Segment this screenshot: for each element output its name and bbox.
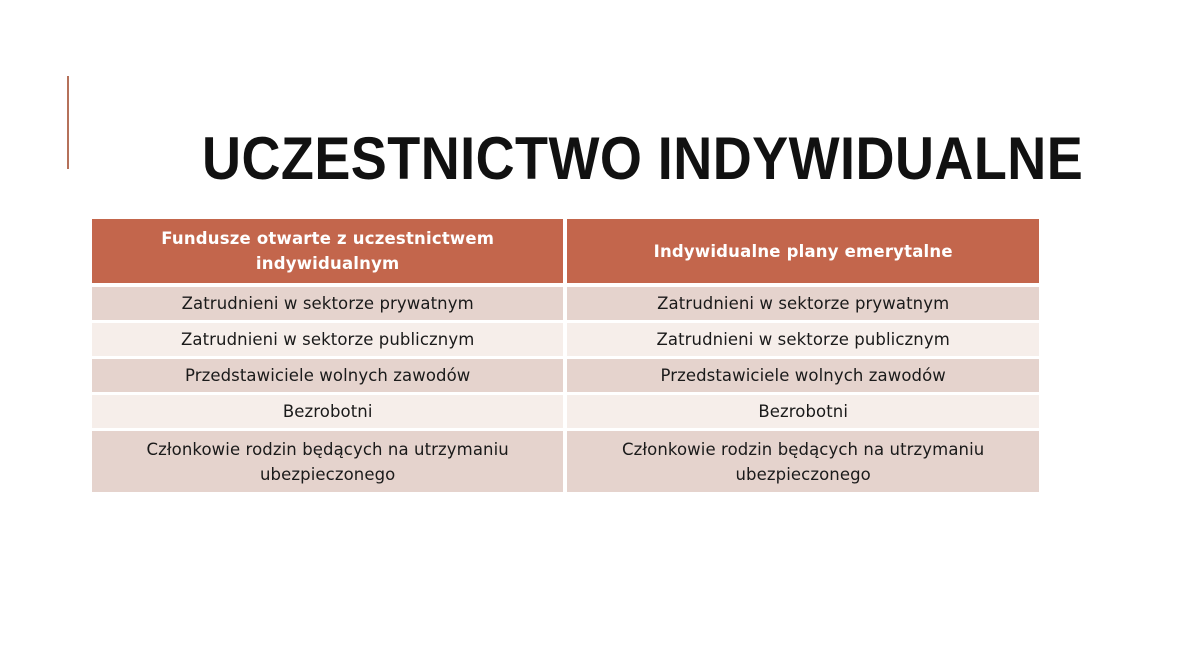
table-cell-open-funds-public-sector: Zatrudnieni w sektorze publicznym	[92, 323, 567, 359]
table-header: Fundusze otwarte z uczestnictwem indywid…	[92, 219, 1039, 287]
table-row: Bezrobotni Bezrobotni	[92, 395, 1039, 431]
table-cell-open-funds-unemployed: Bezrobotni	[92, 395, 567, 431]
table-cell-individual-plans-public-sector: Zatrudnieni w sektorze publicznym	[567, 323, 1039, 359]
table-header-cell-individual-plans: Indywidualne plany emerytalne	[567, 219, 1039, 287]
table-cell-individual-plans-unemployed: Bezrobotni	[567, 395, 1039, 431]
table-cell-individual-plans-dependent-family: Członkowie rodzin będących na utrzymaniu…	[567, 431, 1039, 492]
table-header-row: Fundusze otwarte z uczestnictwem indywid…	[92, 219, 1039, 287]
table-cell-individual-plans-liberal-professions: Przedstawiciele wolnych zawodów	[567, 359, 1039, 395]
slide-canvas: Uczestnictwo indywidualne Fundusze otwar…	[0, 0, 1180, 663]
table-row: Przedstawiciele wolnych zawodów Przedsta…	[92, 359, 1039, 395]
table-row: Zatrudnieni w sektorze publicznym Zatrud…	[92, 323, 1039, 359]
participation-table-wrapper: Fundusze otwarte z uczestnictwem indywid…	[92, 219, 1039, 492]
table-cell-open-funds-liberal-professions: Przedstawiciele wolnych zawodów	[92, 359, 567, 395]
table-row: Członkowie rodzin będących na utrzymaniu…	[92, 431, 1039, 492]
table-cell-individual-plans-private-sector: Zatrudnieni w sektorze prywatnym	[567, 287, 1039, 323]
participation-table: Fundusze otwarte z uczestnictwem indywid…	[92, 219, 1039, 492]
title-accent-bar	[67, 76, 69, 169]
table-row: Zatrudnieni w sektorze prywatnym Zatrudn…	[92, 287, 1039, 323]
table-body: Zatrudnieni w sektorze prywatnym Zatrudn…	[92, 287, 1039, 492]
table-cell-open-funds-private-sector: Zatrudnieni w sektorze prywatnym	[92, 287, 567, 323]
table-cell-open-funds-dependent-family: Członkowie rodzin będących na utrzymaniu…	[92, 431, 567, 492]
title-area: Uczestnictwo indywidualne	[0, 0, 1180, 200]
page-title: Uczestnictwo indywidualne	[202, 126, 1012, 192]
table-header-cell-open-funds: Fundusze otwarte z uczestnictwem indywid…	[92, 219, 567, 287]
